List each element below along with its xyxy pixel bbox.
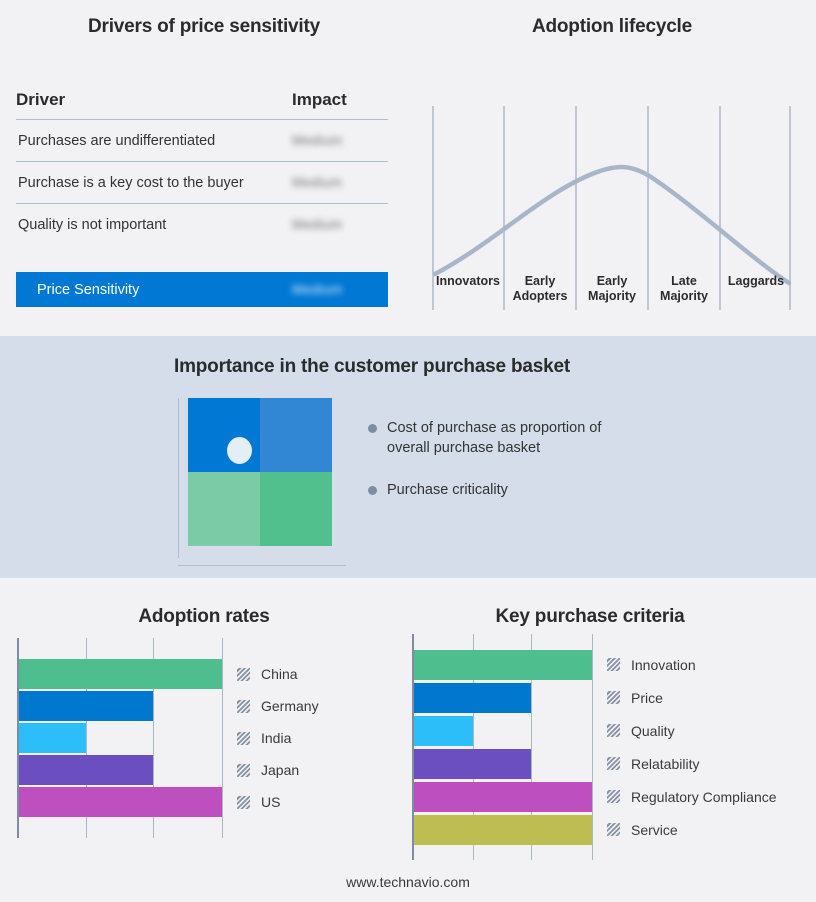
legend-item: Innovation [607,650,777,680]
panel-title-adoption-rates: Adoption rates [0,606,408,628]
legend-swatch-icon [237,796,250,809]
legend-item: Price [607,683,777,713]
basket-legend-label: Purchase criticality [387,480,508,500]
bar-chart-legend: ChinaGermanyIndiaJapanUS [237,638,319,838]
bar-chart-legend: InnovationPriceQualityRelatabilityRegula… [607,634,777,860]
panel-title-key-purchase-criteria: Key purchase criteria [400,606,780,628]
bullet-icon [368,424,377,433]
impact-cell: Medium [292,132,388,150]
bar-row [19,659,222,689]
impact-value-redacted: Medium [292,282,342,297]
label-line-2: Majority [648,289,720,304]
quadrant-grid [188,398,332,546]
impact-value-redacted: Medium [292,133,342,148]
table-row: Purchases are undifferentiated Medium [16,120,388,162]
table-row: Purchase is a key cost to the buyer Medi… [16,162,388,204]
legend-label: US [261,794,280,810]
legend-swatch-icon [607,757,620,770]
legend-label: Service [631,822,678,838]
driver-name: Purchases are undifferentiated [16,133,292,149]
bar-chart-gridline [222,638,223,838]
legend-swatch-icon [237,668,250,681]
drivers-table: Driver Impact Purchases are undifferenti… [16,90,388,245]
lifecycle-label-late-majority: Late Majority [648,274,720,310]
bar-fill [19,787,222,817]
legend-label: Regulatory Compliance [631,789,777,805]
drivers-table-header: Driver Impact [16,90,388,120]
legend-item: India [237,723,319,753]
position-marker-icon [227,437,252,464]
label-line-1: Innovators [432,274,504,289]
lifecycle-label-innovators: Innovators [432,274,504,310]
label-line-1: Early [504,274,576,289]
bar-row [414,650,592,680]
panel-importance-purchase-basket: Importance in the customer purchase bask… [0,336,816,578]
legend-label: Innovation [631,657,696,673]
bar-row [414,683,592,713]
bar-chart: ChinaGermanyIndiaJapanUS [17,638,319,838]
column-header-driver: Driver [16,90,292,110]
legend-label: Relatability [631,756,699,772]
legend-swatch-icon [607,724,620,737]
column-header-impact: Impact [292,90,388,110]
panel-adoption-rates: Adoption rates ChinaGermanyIndiaJapanUS [0,578,408,902]
bar-chart-bars [414,634,592,860]
quadrant-top-left [188,398,260,472]
legend-label: China [261,666,298,682]
lifecycle-label-early-majority: Early Majority [576,274,648,310]
bar-chart: InnovationPriceQualityRelatabilityRegula… [412,634,777,860]
panel-drivers-of-price-sensitivity: Drivers of price sensitivity Driver Impa… [0,0,408,336]
bar-fill [19,755,153,785]
lifecycle-label-early-adopters: Early Adopters [504,274,576,310]
impact-value-redacted: Medium [292,175,342,190]
bar-row [19,755,222,785]
lifecycle-label-laggards: Laggards [720,274,792,310]
adoption-lifecycle-chart: Innovators Early Adopters Early Majority… [432,84,792,310]
quadrant-x-axis [178,565,346,566]
legend-item: China [237,659,319,689]
table-row: Quality is not important Medium [16,204,388,245]
basket-legend: Cost of purchase as proportion of overal… [368,418,668,522]
bar-fill [19,659,222,689]
bar-fill [414,650,592,680]
bar-row [19,691,222,721]
bar-fill [19,723,86,753]
legend-item: Service [607,815,777,845]
bullet-icon [368,486,377,495]
list-item: Cost of purchase as proportion of overal… [368,418,668,458]
footer-url: www.technavio.com [0,874,816,890]
legend-label: Japan [261,762,299,778]
legend-item: Relatability [607,749,777,779]
driver-name: Quality is not important [16,217,292,233]
label-line-2: Majority [576,289,648,304]
price-sensitivity-highlight-row: Price Sensitivity Medium [16,272,388,307]
legend-label: Price [631,690,663,706]
label-line-1: Laggards [720,274,792,289]
legend-item: Regulatory Compliance [607,782,777,812]
bar-fill [414,716,473,746]
panel-title-drivers: Drivers of price sensitivity [0,16,408,38]
bar-fill [19,691,153,721]
quadrant-top-right [260,398,332,472]
highlight-label: Price Sensitivity [16,282,292,298]
bar-row [414,749,592,779]
legend-label: Germany [261,698,319,714]
impact-value-redacted: Medium [292,217,342,232]
panel-title-lifecycle: Adoption lifecycle [408,16,816,38]
bar-chart-plot [17,638,222,838]
legend-item: US [237,787,319,817]
legend-swatch-icon [237,700,250,713]
driver-name: Purchase is a key cost to the buyer [16,175,292,191]
legend-swatch-icon [607,691,620,704]
legend-item: Quality [607,716,777,746]
legend-item: Japan [237,755,319,785]
bar-fill [414,815,592,845]
list-item: Purchase criticality [368,480,668,500]
panel-key-purchase-criteria: Key purchase criteria InnovationPriceQua… [400,578,816,902]
impact-cell: Medium [292,216,388,234]
panel-title-basket: Importance in the customer purchase bask… [0,356,744,378]
bar-row [414,716,592,746]
bar-chart-bars [19,638,222,838]
quadrant-y-axis [178,398,179,558]
bar-fill [414,749,531,779]
legend-label: India [261,730,291,746]
quadrant-chart [178,398,346,566]
legend-swatch-icon [237,764,250,777]
lifecycle-segment-labels: Innovators Early Adopters Early Majority… [432,274,792,310]
legend-swatch-icon [607,658,620,671]
bar-row [19,723,222,753]
bar-row [414,815,592,845]
bar-fill [414,683,531,713]
bar-row [414,782,592,812]
highlight-impact-cell: Medium [292,281,388,299]
legend-swatch-icon [237,732,250,745]
panel-adoption-lifecycle: Adoption lifecycle Innovators Early Adop… [408,0,816,336]
bar-fill [414,782,592,812]
legend-swatch-icon [607,790,620,803]
bar-chart-gridline [592,634,593,860]
quadrant-bottom-left [188,472,260,546]
legend-label: Quality [631,723,675,739]
bar-row [19,787,222,817]
legend-item: Germany [237,691,319,721]
basket-legend-label: Cost of purchase as proportion of overal… [387,418,637,458]
label-line-2: Adopters [504,289,576,304]
quadrant-bottom-right [260,472,332,546]
lifecycle-bell-curve [435,167,789,283]
legend-swatch-icon [607,823,620,836]
bar-chart-plot [412,634,592,860]
impact-cell: Medium [292,174,388,192]
label-line-1: Late [648,274,720,289]
label-line-1: Early [576,274,648,289]
